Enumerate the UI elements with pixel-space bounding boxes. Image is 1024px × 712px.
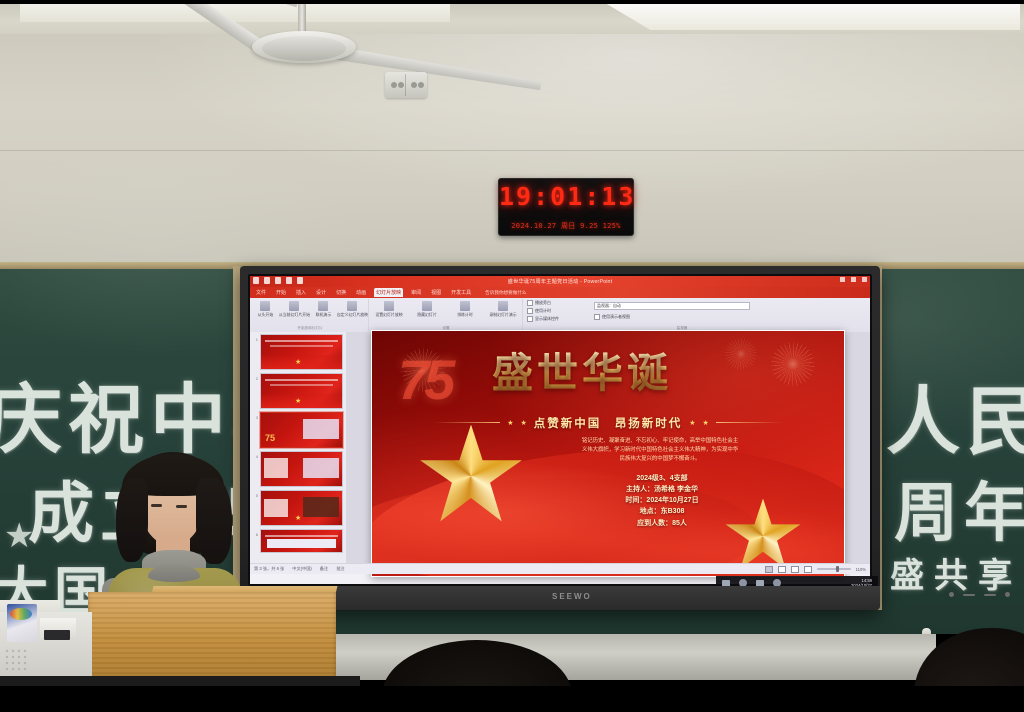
hair-side-right — [196, 478, 232, 564]
gold-star-large-icon — [418, 425, 524, 527]
eye-left — [151, 504, 162, 507]
thumbnail-number: 5 — [251, 490, 260, 498]
btn-from-beginning[interactable]: 从头开始 — [252, 299, 279, 318]
gold-star-small-icon — [724, 499, 802, 573]
language-indicator[interactable]: 中文(中国) — [292, 566, 312, 572]
checkbox-box-icon — [527, 316, 533, 322]
volume-down-icon[interactable] — [963, 594, 975, 596]
star-icon: ★ — [295, 397, 301, 405]
btn-record-slideshow[interactable]: 录制幻灯片演示 — [484, 299, 522, 318]
current-slide[interactable]: 75 盛世华诞 ★ ★ 点赞新中国 昂扬新时代 ★ ★ 铭记历史、凝聚奋进、不忘… — [371, 330, 845, 577]
btn-custom-show[interactable]: 自定义幻灯片放映 — [337, 299, 368, 318]
photo-letterbox-top — [0, 0, 1024, 4]
decor-line-right — [716, 422, 782, 423]
photo-letterbox-bottom — [0, 686, 1024, 712]
ribbon-group-label-start: 开始放映幻灯片 — [252, 326, 368, 331]
tab-file[interactable]: 文件 — [254, 288, 268, 297]
checkbox-use-timings[interactable]: 使用计时 — [527, 308, 551, 314]
meta-host: 主持人：汤希格 李金华 — [522, 484, 802, 495]
monitor-select[interactable]: 监视器：自动 — [594, 302, 750, 310]
slide-subtitle: 点赞新中国 昂扬新时代 — [534, 415, 683, 431]
btn-rehearse-timings[interactable]: 排练计时 — [446, 299, 484, 318]
display-brand-label: SEEWO — [552, 592, 592, 601]
notes-button[interactable]: 备注 — [320, 566, 328, 572]
ribbon-group-monitors: 监视器：自动 使用演示者视图 监视器 — [590, 299, 774, 331]
product-box — [7, 604, 37, 642]
tab-developer[interactable]: 开发工具 — [449, 288, 473, 297]
checkbox-play-narrations[interactable]: 播放旁白 — [527, 300, 551, 306]
checkbox-presenter-view[interactable]: 使用演示者视图 — [594, 314, 630, 320]
tab-review[interactable]: 审阅 — [409, 288, 423, 297]
menu-button-icon[interactable] — [1005, 592, 1010, 597]
tab-home[interactable]: 开始 — [274, 288, 288, 297]
tab-animations[interactable]: 动画 — [354, 288, 368, 297]
ribbon-checkbox-column: 播放旁白 使用计时 显示媒体控件 — [524, 299, 591, 331]
thumbnail-row[interactable]: 6 — [251, 529, 343, 553]
status-right-cluster[interactable]: 110% — [765, 566, 866, 573]
zoom-slider[interactable] — [817, 568, 851, 570]
numeral-75: 75 — [265, 433, 275, 443]
btn-present-online[interactable]: 联机演示 — [310, 299, 337, 318]
minimize-icon[interactable] — [840, 277, 845, 282]
thumbnail-slide-2[interactable]: ★ — [260, 373, 343, 409]
star-icon: ★ — [703, 419, 709, 427]
thumbnail-slide-1[interactable]: ★ — [260, 334, 343, 370]
ribbon-group-setup: 设置幻灯片放映 隐藏幻灯片 排练计时 录制幻灯片演示 设置 — [370, 299, 523, 331]
play-from-start-icon — [260, 301, 270, 311]
thumbnail-number: 4 — [251, 451, 260, 459]
custom-show-icon — [347, 301, 357, 311]
star-icon: ★ — [689, 419, 695, 427]
star-icon: ★ — [295, 358, 301, 366]
slide-numeral-75: 75 — [398, 347, 450, 412]
display-control-buttons[interactable] — [949, 592, 1010, 597]
checkbox-box-icon — [527, 308, 533, 314]
record-slideshow-icon — [498, 301, 508, 311]
dark-device — [44, 630, 70, 640]
checkbox-box-icon — [594, 314, 600, 320]
volume-up-icon[interactable] — [984, 594, 996, 596]
tab-view[interactable]: 视图 — [429, 288, 443, 297]
checkbox-box-icon — [527, 300, 533, 306]
ribbon-tab-strip[interactable]: 文件 开始 插入 设计 切换 动画 幻灯片放映 审阅 视图 开发工具 告诉我你想… — [250, 287, 870, 298]
speaker-vent-grille — [4, 648, 28, 672]
hair-side-left — [116, 478, 148, 562]
ribbon[interactable]: 从头开始 从当前幻灯片开始 联机演示 自定义幻灯片放映 开始放 — [250, 298, 870, 333]
thumbnail-row[interactable]: 1 ★ — [251, 334, 343, 370]
slide-paragraph: 铭记历史、凝聚奋进、不忘初心、牢记使命，高举中国特色社会主 义伟大旗帜，学习新时… — [540, 437, 780, 465]
slide-editing-stage[interactable]: 75 盛世华诞 ★ ★ 点赞新中国 昂扬新时代 ★ ★ 铭记历史、凝聚奋进、不忘… — [346, 332, 870, 574]
thumbnail-number: 3 — [251, 412, 260, 420]
tab-design[interactable]: 设计 — [314, 288, 328, 297]
powerpoint-status-bar[interactable]: 第 3 张，共 6 张 中文(中国) 备注 批注 110% — [250, 563, 870, 574]
powerpoint-workspace: 1 ★ 2 ★ 3 75 — [250, 332, 870, 574]
wood-grain — [88, 592, 336, 680]
tab-transitions[interactable]: 切换 — [334, 288, 348, 297]
ribbon-group-start-slideshow: 从头开始 从当前幻灯片开始 联机演示 自定义幻灯片放映 开始放 — [252, 299, 369, 331]
thumbnail-number: 2 — [251, 373, 260, 381]
btn-hide-slide[interactable]: 隐藏幻灯片 — [408, 299, 446, 318]
powerpoint-title-bar: 盛世华诞75周年主题党日活动 - PowerPoint — [250, 276, 870, 287]
close-icon[interactable] — [862, 277, 867, 282]
thumbnail-row[interactable]: 5 ★ — [251, 490, 343, 526]
thumbnail-number: 6 — [251, 529, 260, 537]
document-title: 盛世华诞75周年主题党日活动 - PowerPoint — [250, 278, 870, 285]
decor-line-left — [434, 422, 500, 423]
lectern-front-panel — [88, 592, 336, 680]
normal-view-icon[interactable] — [765, 566, 773, 573]
thumbnail-slide-3-selected[interactable]: 75 — [260, 412, 343, 448]
thumbnail-row[interactable]: 4 — [251, 451, 343, 487]
slide-thumbnail-pane[interactable]: 1 ★ 2 ★ 3 75 — [250, 332, 347, 574]
blackboard-frame-right — [874, 266, 1024, 610]
slide-title: 盛世华诞 — [492, 339, 832, 399]
tab-slideshow[interactable]: 幻灯片放映 — [374, 288, 403, 297]
eye-right — [176, 505, 187, 508]
hide-slide-icon — [422, 301, 432, 311]
comments-button[interactable]: 批注 — [336, 566, 344, 572]
play-from-current-icon — [289, 301, 299, 311]
thumbnail-slide-4[interactable] — [260, 451, 343, 487]
powerpoint-window[interactable]: 盛世华诞75周年主题党日活动 - PowerPoint 文件 开始 插入 设计 … — [250, 276, 870, 584]
window-buttons[interactable] — [840, 277, 867, 282]
thumbnail-number: 1 — [251, 334, 260, 342]
thumbnail-slide-5[interactable]: ★ — [260, 490, 343, 526]
zoom-level[interactable]: 110% — [856, 567, 866, 572]
power-button-icon[interactable] — [949, 592, 954, 597]
setup-show-icon — [384, 301, 394, 311]
reading-view-icon[interactable] — [791, 566, 799, 573]
star-icon: ★ — [295, 514, 301, 522]
slide-indicator: 第 3 张，共 6 张 — [254, 566, 284, 572]
collar — [148, 564, 200, 582]
meta-branch: 2024级3、4支部 — [522, 473, 802, 484]
tab-insert[interactable]: 插入 — [294, 288, 308, 297]
checkbox-show-media-controls[interactable]: 显示媒体控件 — [527, 316, 559, 322]
tell-me-box[interactable]: 告诉我你想要做什么 — [485, 290, 526, 296]
thumbnail-row[interactable]: 2 ★ — [251, 373, 343, 409]
classroom-scene: 19:01:13 2024.10.27 周日 9.25 125% 庆祝中华 成立… — [0, 0, 1024, 712]
thumbnail-row[interactable]: 3 75 — [251, 412, 343, 448]
btn-setup-show[interactable]: 设置幻灯片放映 — [370, 299, 408, 318]
restore-icon[interactable] — [851, 277, 856, 282]
rehearse-timings-icon — [460, 301, 470, 311]
thumbnail-slide-6[interactable] — [260, 529, 343, 553]
slideshow-icon[interactable] — [804, 566, 812, 573]
present-online-icon — [318, 301, 328, 311]
btn-from-current[interactable]: 从当前幻灯片开始 — [279, 299, 310, 318]
slide-sorter-icon[interactable] — [778, 566, 786, 573]
